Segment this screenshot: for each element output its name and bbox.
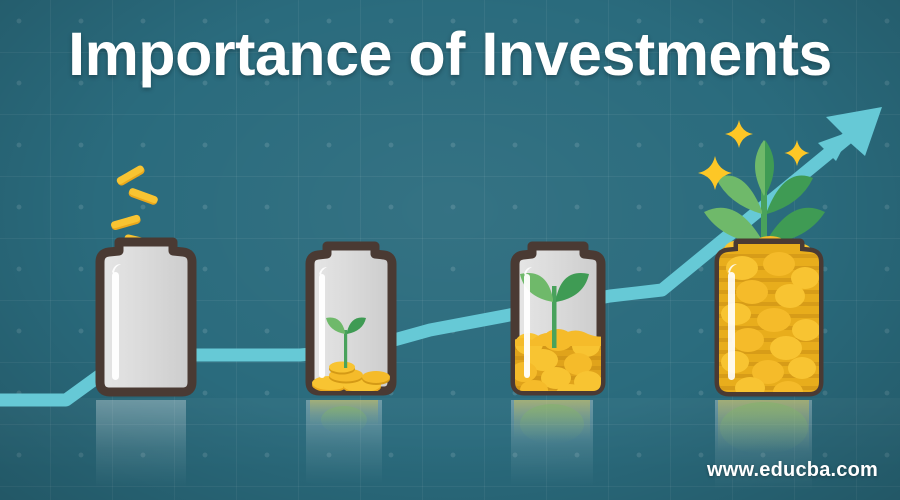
jar-4-overflowing[interactable]	[704, 140, 825, 403]
falling-coin-1	[116, 164, 146, 187]
falling-coin-3	[110, 214, 141, 231]
jar-1-highlight	[112, 272, 119, 380]
jar-2-highlight	[319, 274, 325, 378]
jar-2-sprouting[interactable]	[310, 246, 392, 394]
jar-1-empty[interactable]	[100, 242, 192, 392]
infographic-canvas: Importance of Investments www.educba.com	[0, 0, 900, 500]
falling-coins-group	[110, 164, 159, 249]
jar-3-half-full[interactable]	[508, 246, 608, 404]
sparkle-star-right	[785, 140, 810, 166]
sparkle-star-top	[725, 120, 753, 148]
jars-layer	[0, 0, 900, 500]
jar-3-highlight	[524, 274, 530, 378]
falling-coin-2	[128, 187, 159, 206]
jar-4-highlight	[728, 272, 735, 380]
